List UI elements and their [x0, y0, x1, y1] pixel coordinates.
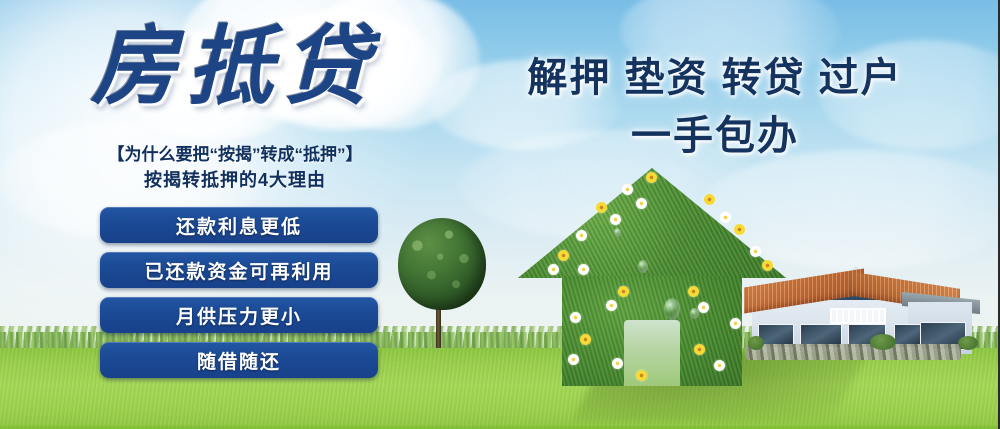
flower-icon	[578, 264, 589, 275]
subtitle-question: 【为什么要把“按揭”转成“抵押”】	[70, 140, 400, 165]
water-drop-icon	[638, 260, 648, 273]
flower-icon	[636, 370, 647, 381]
flower-icon	[596, 202, 607, 213]
flower-icon	[698, 302, 709, 313]
flower-icon	[606, 300, 617, 311]
services-headline-line1: 解押 垫资 转贷 过户	[465, 45, 965, 103]
flower-icon	[636, 198, 647, 209]
flower-icon	[570, 312, 581, 323]
flower-icon	[730, 318, 741, 329]
flower-icon	[558, 250, 569, 261]
water-drop-icon	[664, 298, 680, 320]
flower-icon	[568, 354, 579, 365]
house-balcony	[830, 308, 886, 324]
grass-house-doorway	[624, 320, 680, 386]
house-stone-wall	[746, 344, 961, 360]
flower-icon	[612, 358, 623, 369]
reason-button-2[interactable]: 已还款资金可再利用	[100, 252, 378, 288]
flower-icon	[548, 264, 559, 275]
flower-icon	[580, 334, 591, 345]
flower-icon	[622, 184, 633, 195]
real-estate-mortgage-banner: 房抵贷 【为什么要把“按揭”转成“抵押”】 按揭转抵押的4大理由 解押 垫资 转…	[0, 0, 1000, 429]
flower-icon	[688, 286, 699, 297]
shrub-icon	[958, 336, 978, 350]
water-drop-icon	[614, 228, 621, 237]
flower-icon	[646, 172, 657, 183]
flower-icon	[610, 214, 621, 225]
shrub-icon	[870, 334, 896, 350]
reason-button-3[interactable]: 月供压力更小	[100, 297, 378, 333]
tree-icon	[398, 218, 486, 310]
reason-button-1[interactable]: 还款利息更低	[100, 207, 378, 243]
flower-icon	[618, 286, 629, 297]
flower-icon	[694, 344, 705, 355]
reasons-list: 还款利息更低 已还款资金可再利用 月供压力更小 随借随还	[100, 207, 378, 387]
flower-icon	[720, 212, 731, 223]
flower-icon	[576, 230, 587, 241]
flower-icon	[714, 360, 725, 371]
services-headline-line2: 一手包办	[465, 103, 965, 161]
page-title: 房抵贷	[70, 24, 400, 110]
flower-icon	[704, 194, 715, 205]
subtitle-reasons-count: 按揭转抵押的4大理由	[70, 166, 400, 192]
real-house-photo	[744, 252, 984, 362]
shrub-icon	[748, 336, 764, 350]
flower-icon	[734, 224, 745, 235]
reason-button-4[interactable]: 随借随还	[100, 342, 378, 378]
